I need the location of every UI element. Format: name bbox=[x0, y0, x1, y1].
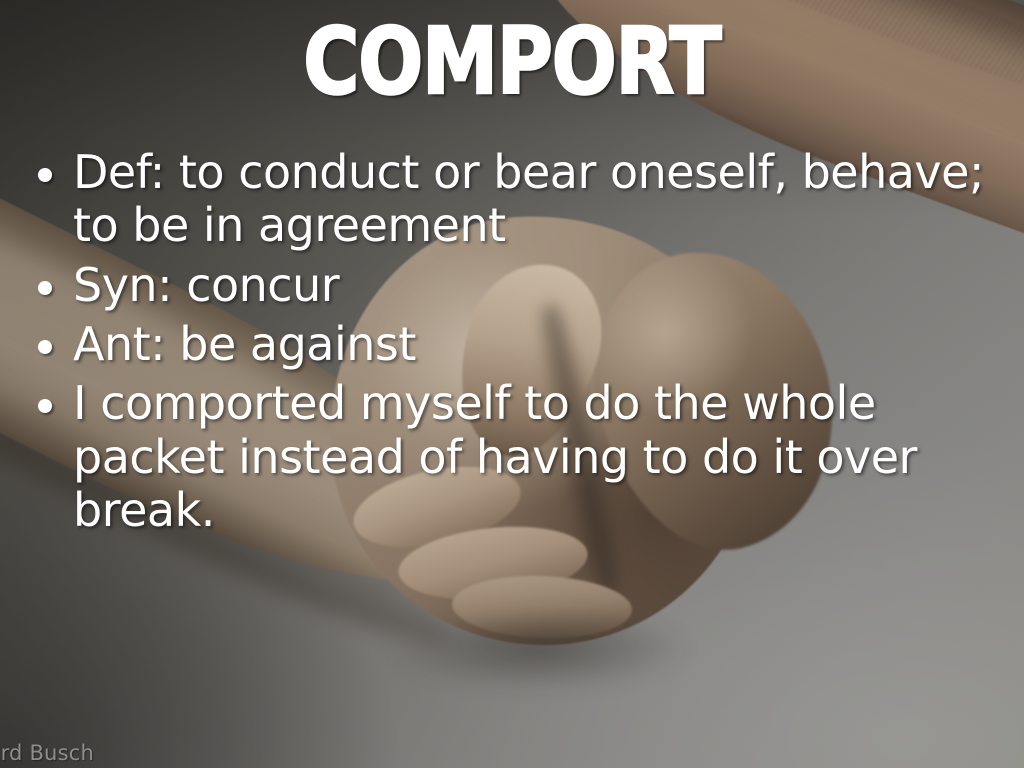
slide-content: COMPORT Def: to conduct or bear oneself,… bbox=[0, 0, 1024, 768]
bullet-list: Def: to conduct or bear oneself, behave;… bbox=[30, 146, 1010, 544]
bullet-dot-icon bbox=[38, 399, 52, 413]
list-item: Syn: concur bbox=[30, 259, 1010, 312]
bullet-text: Def: to conduct or bear oneself, behave;… bbox=[73, 146, 1010, 253]
bullet-text: I comported myself to do the whole packe… bbox=[73, 377, 1010, 537]
list-item: Def: to conduct or bear oneself, behave;… bbox=[30, 146, 1010, 253]
list-item: I comported myself to do the whole packe… bbox=[30, 377, 1010, 537]
bullet-text: Ant: be against bbox=[73, 318, 1010, 371]
list-item: Ant: be against bbox=[30, 318, 1010, 371]
bullet-text: Syn: concur bbox=[73, 259, 1010, 312]
slide-title: COMPORT bbox=[41, 16, 983, 108]
bullet-dot-icon bbox=[38, 340, 52, 354]
presentation-slide: COMPORT Def: to conduct or bear oneself,… bbox=[0, 0, 1024, 768]
bullet-dot-icon bbox=[38, 281, 52, 295]
bullet-dot-icon bbox=[38, 168, 52, 182]
author-watermark: hard Busch bbox=[0, 741, 94, 765]
